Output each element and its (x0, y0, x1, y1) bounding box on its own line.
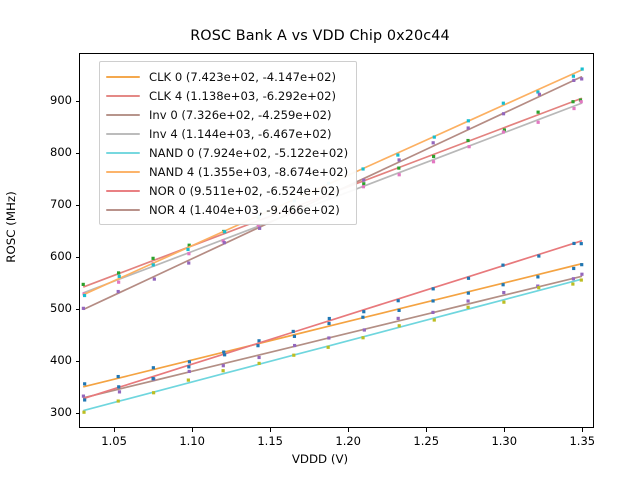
data-point (82, 307, 85, 310)
x-tick-mark (270, 428, 271, 432)
y-tick-mark (76, 361, 80, 362)
data-point (361, 167, 364, 170)
chart-title: ROSC Bank A vs VDD Chip 0x20c44 (0, 28, 640, 44)
data-point (397, 317, 400, 320)
legend-line-swatch (106, 171, 140, 173)
data-point (397, 167, 400, 170)
data-point (293, 344, 296, 347)
data-point (153, 278, 156, 281)
legend-item[interactable]: NOR 0 (9.511e+02, -6.524e+02) (106, 181, 348, 200)
data-point (117, 375, 120, 378)
data-point (187, 252, 190, 255)
y-tick-mark (76, 413, 80, 414)
data-point (466, 299, 469, 302)
data-point (581, 67, 584, 70)
legend-line-swatch (106, 209, 140, 211)
data-point (580, 242, 583, 245)
x-tick-label: 1.30 (474, 434, 534, 448)
data-point (431, 311, 434, 314)
legend-label: NAND 0 (7.924e+02, -5.122e+02) (149, 146, 348, 160)
legend-item[interactable]: CLK 0 (7.423e+02, -4.147e+02) (106, 67, 348, 86)
data-point (117, 290, 120, 293)
data-point (431, 299, 434, 302)
data-point (256, 344, 259, 347)
figure: ROSC Bank A vs VDD Chip 0x20c44 CLK 0 (7… (0, 0, 640, 480)
x-tick-mark (504, 428, 505, 432)
x-tick-label: 1.15 (240, 434, 300, 448)
data-point (537, 121, 540, 124)
y-tick-label: 600 (20, 249, 72, 263)
data-point (292, 354, 295, 357)
data-point (82, 395, 85, 398)
data-point (467, 292, 470, 295)
data-point (571, 282, 574, 285)
x-tick-label: 1.20 (318, 434, 378, 448)
legend-line-swatch (106, 190, 140, 192)
data-point (117, 271, 120, 274)
x-tick-mark (582, 428, 583, 432)
y-tick-label: 800 (20, 145, 72, 159)
data-point (361, 336, 364, 339)
data-point (501, 264, 504, 267)
data-point (222, 369, 225, 372)
y-tick-mark (76, 205, 80, 206)
x-tick-mark (192, 428, 193, 432)
data-point (327, 346, 330, 349)
legend-label: NAND 4 (1.355e+03, -8.674e+02) (149, 165, 348, 179)
legend-item[interactable]: NAND 4 (1.355e+03, -8.674e+02) (106, 162, 348, 181)
y-tick-mark (76, 101, 80, 102)
data-point (257, 356, 260, 359)
series-points (83, 242, 583, 402)
legend-item[interactable]: Inv 0 (7.326e+02, -4.259e+02) (106, 105, 348, 124)
legend-label: NOR 0 (9.511e+02, -6.524e+02) (149, 184, 340, 198)
data-point (152, 263, 155, 266)
data-point (82, 411, 85, 414)
data-point (151, 257, 154, 260)
data-point (83, 398, 86, 401)
data-point (152, 391, 155, 394)
data-point (223, 230, 226, 233)
legend-label: CLK 0 (7.423e+02, -4.147e+02) (149, 70, 336, 84)
data-point (502, 291, 505, 294)
data-point (187, 261, 190, 264)
y-tick-label: 900 (20, 93, 72, 107)
y-tick-label: 400 (20, 353, 72, 367)
data-point (432, 155, 435, 158)
data-point (188, 370, 191, 373)
data-point (223, 241, 226, 244)
data-point (362, 310, 365, 313)
legend: CLK 0 (7.423e+02, -4.147e+02)CLK 4 (1.13… (99, 61, 357, 225)
data-point (118, 275, 121, 278)
legend-item[interactable]: NOR 4 (1.404e+03, -9.466e+02) (106, 200, 348, 219)
x-tick-mark (426, 428, 427, 432)
data-point (572, 267, 575, 270)
x-tick-mark (348, 428, 349, 432)
data-point (502, 102, 505, 105)
data-point (466, 139, 469, 142)
x-tick-mark (114, 428, 115, 432)
data-point (572, 277, 575, 280)
data-point (152, 366, 155, 369)
data-point (572, 107, 575, 110)
series-points (82, 273, 584, 398)
data-point (83, 294, 86, 297)
data-point (398, 158, 401, 161)
data-point (117, 281, 120, 284)
data-point (502, 130, 505, 133)
data-point (222, 364, 225, 367)
data-point (467, 119, 470, 122)
data-point (118, 390, 121, 393)
data-point (537, 111, 540, 114)
data-point (117, 399, 120, 402)
legend-line-swatch (106, 133, 140, 135)
data-point (572, 79, 575, 82)
legend-line-swatch (106, 95, 140, 97)
data-point (187, 379, 190, 382)
legend-label: Inv 0 (7.326e+02, -4.259e+02) (149, 108, 332, 122)
data-point (223, 353, 226, 356)
data-point (572, 242, 575, 245)
data-point (396, 153, 399, 156)
y-tick-label: 500 (20, 301, 72, 315)
data-point (467, 126, 470, 129)
legend-label: Inv 4 (1.144e+03, -6.467e+02) (149, 127, 332, 141)
y-tick-mark (76, 257, 80, 258)
data-point (580, 278, 583, 281)
data-point (537, 286, 540, 289)
data-point (363, 328, 366, 331)
data-point (571, 100, 574, 103)
data-point (151, 377, 154, 380)
data-point (467, 306, 470, 309)
x-tick-label: 1.25 (396, 434, 456, 448)
data-point (362, 179, 365, 182)
legend-line-swatch (106, 114, 140, 116)
x-tick-label: 1.05 (84, 434, 144, 448)
series-line (84, 276, 581, 397)
data-point (82, 283, 85, 286)
data-point (397, 309, 400, 312)
data-point (327, 322, 330, 325)
data-point (580, 100, 583, 103)
legend-line-swatch (106, 76, 140, 78)
data-point (117, 385, 120, 388)
data-point (397, 299, 400, 302)
data-point (328, 317, 331, 320)
data-point (292, 330, 295, 333)
data-point (433, 318, 436, 321)
x-tick-label: 1.35 (552, 434, 612, 448)
data-point (258, 362, 261, 365)
data-point (580, 77, 583, 80)
y-axis-label: ROSC (MHz) (4, 157, 18, 297)
data-point (432, 141, 435, 144)
legend-item[interactable]: Inv 4 (1.144e+03, -6.467e+02) (106, 124, 348, 143)
legend-item[interactable]: NAND 0 (7.924e+02, -5.122e+02) (106, 143, 348, 162)
legend-line-swatch (106, 152, 140, 154)
data-point (580, 263, 583, 266)
data-point (467, 277, 470, 280)
data-point (362, 185, 365, 188)
data-point (433, 136, 436, 139)
plot-area: CLK 0 (7.423e+02, -4.147e+02)CLK 4 (1.13… (79, 53, 594, 428)
data-point (580, 273, 583, 276)
x-tick-label: 1.10 (162, 434, 222, 448)
legend-item[interactable]: CLK 4 (1.138e+03, -6.292e+02) (106, 86, 348, 105)
x-axis-label: VDDD (V) (0, 452, 640, 466)
data-point (502, 283, 505, 286)
data-point (327, 336, 330, 339)
legend-label: NOR 4 (1.404e+03, -9.466e+02) (149, 203, 340, 217)
data-point (572, 75, 575, 78)
data-point (537, 254, 540, 257)
data-point (187, 365, 190, 368)
y-tick-mark (76, 153, 80, 154)
data-point (536, 275, 539, 278)
data-point (398, 324, 401, 327)
data-point (432, 287, 435, 290)
y-tick-mark (76, 309, 80, 310)
series-line (84, 279, 581, 410)
y-tick-label: 300 (20, 405, 72, 419)
data-point (468, 145, 471, 148)
legend-label: CLK 4 (1.138e+03, -6.292e+02) (149, 89, 336, 103)
data-point (432, 160, 435, 163)
y-tick-label: 700 (20, 197, 72, 211)
data-point (398, 173, 401, 176)
data-point (538, 93, 541, 96)
data-point (293, 335, 296, 338)
data-point (502, 301, 505, 304)
series-line (84, 264, 581, 387)
data-point (188, 360, 191, 363)
data-point (361, 316, 364, 319)
data-point (83, 382, 86, 385)
data-point (502, 112, 505, 115)
data-point (186, 248, 189, 251)
data-point (258, 227, 261, 230)
